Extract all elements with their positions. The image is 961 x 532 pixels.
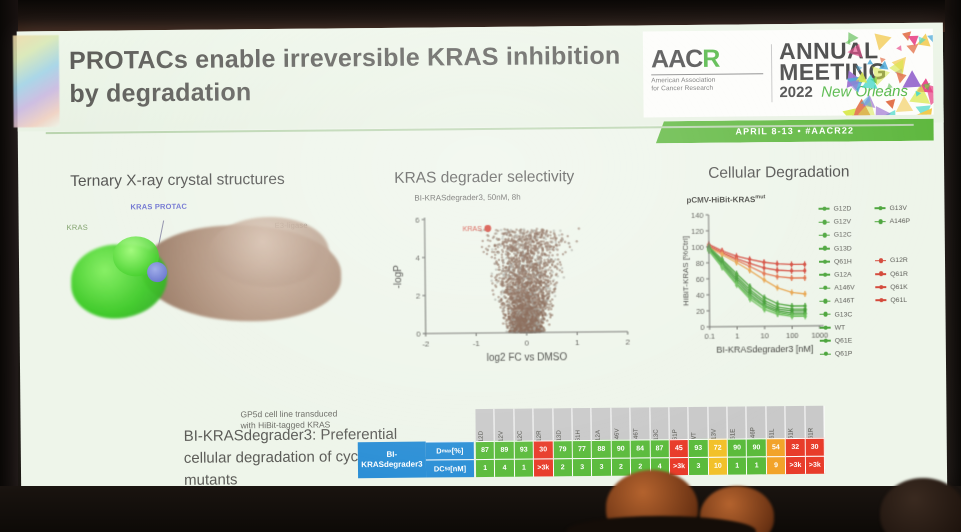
table-cell: >3k bbox=[670, 457, 690, 475]
aacr-logo-text: AACR bbox=[651, 46, 767, 72]
cellular-panel-subtitle: pCMV-HiBit-KRASmut bbox=[686, 194, 765, 204]
volcano-plot bbox=[389, 207, 641, 369]
legend-item-g12d: G12D bbox=[818, 205, 854, 219]
legend-marker-icon bbox=[819, 287, 830, 289]
table-column-header: Q61L bbox=[766, 406, 786, 438]
protac-ligand bbox=[147, 262, 167, 282]
legend-label: G13C bbox=[834, 311, 852, 318]
room-right-wall bbox=[945, 0, 961, 532]
legend-label: A146T bbox=[834, 298, 854, 305]
dose-response-canvas bbox=[678, 206, 830, 367]
table-cell: 84 bbox=[631, 439, 651, 457]
presentation-slide: PROTACs enable irreversible KRAS inhibit… bbox=[17, 23, 947, 500]
legend-marker-icon bbox=[875, 260, 886, 262]
aacr-branding-block: AACR American Association for Cancer Res… bbox=[643, 29, 934, 118]
legend-item-g13d: G13D bbox=[819, 245, 855, 259]
legend-item-q61k: Q61K bbox=[875, 284, 911, 298]
table-cell: 54 bbox=[767, 438, 787, 456]
table-cell: 3 bbox=[689, 457, 709, 475]
legend-item-g12a: G12A bbox=[819, 271, 855, 285]
slide-title: PROTACs enable irreversible KRAS inhibit… bbox=[69, 40, 630, 110]
table-column-header: Q61H bbox=[572, 408, 592, 440]
legend-column-1: G12DG12VG12CG13DQ61HG12AA146VA146TG13CWT… bbox=[818, 205, 855, 364]
legend-label: G12R bbox=[890, 257, 908, 264]
table-cell: 9 bbox=[767, 456, 787, 474]
table-cell: 3 bbox=[592, 458, 612, 476]
table-cell: 1 bbox=[728, 456, 748, 474]
legend-label: Q61P bbox=[835, 351, 852, 358]
table-metric-label: Dmax [%] bbox=[426, 441, 474, 459]
aacr-association-line-2: for Cancer Research bbox=[651, 84, 767, 93]
legend-marker-icon bbox=[819, 208, 830, 210]
legend-item-a146v: A146V bbox=[819, 285, 855, 299]
table-cell: 10 bbox=[709, 457, 729, 475]
table-cell: 87 bbox=[476, 441, 496, 459]
table-cell: 3 bbox=[573, 458, 593, 476]
table-column-header: G13D bbox=[553, 408, 573, 440]
legend-spacer bbox=[875, 231, 911, 257]
legend-marker-icon bbox=[875, 273, 886, 275]
table-cell: 32 bbox=[786, 438, 806, 456]
table-metric-label: DC50 [nM] bbox=[426, 459, 474, 477]
legend-marker-icon bbox=[875, 300, 886, 302]
crystal-panel-title: Ternary X-ray crystal structures bbox=[70, 171, 285, 191]
legend-item-q61e: Q61E bbox=[820, 337, 856, 351]
table-column-header: G12A bbox=[592, 408, 612, 440]
table-cell: 90 bbox=[611, 440, 631, 458]
cellular-panel-title: Cellular Degradation bbox=[708, 163, 849, 182]
legend-label: G13V bbox=[889, 205, 906, 212]
table-column-header: Q61E bbox=[727, 406, 747, 438]
volcano-panel-subtitle: BI-KRASdegrader3, 50nM, 8h bbox=[414, 193, 520, 203]
legend-marker-icon bbox=[819, 300, 830, 302]
legend-marker-icon bbox=[819, 274, 830, 276]
legend-label: G12V bbox=[834, 219, 851, 226]
table-cell: 79 bbox=[553, 440, 573, 458]
legend-marker-icon bbox=[820, 353, 831, 355]
confetti-graphic bbox=[841, 29, 934, 116]
light-prism-artifact bbox=[13, 35, 60, 127]
table-column-header: G13C bbox=[650, 407, 670, 439]
legend-marker-icon bbox=[819, 221, 830, 223]
table-column-header: Q61R bbox=[805, 406, 825, 438]
table-column-header: G12V bbox=[495, 409, 515, 441]
table-cell: 1 bbox=[747, 456, 767, 474]
table-cell: 45 bbox=[670, 439, 690, 457]
table-column-header: WT bbox=[689, 407, 709, 439]
table-column-header: G13V bbox=[708, 407, 728, 439]
legend-label: A146V bbox=[834, 285, 854, 292]
table-column-header: A146P bbox=[747, 406, 767, 438]
dose-response-plot: G12DG12VG12CG13DQ61HG12AA146VA146TG13CWT… bbox=[678, 205, 940, 372]
legend-label: Q61E bbox=[835, 337, 852, 344]
aacr-logo-accent: R bbox=[702, 45, 719, 73]
table-cell: 4 bbox=[495, 459, 515, 477]
label-kras-protac: KRAS PROTAC bbox=[130, 202, 187, 212]
legend-item-g12c: G12C bbox=[819, 232, 855, 246]
room-floor bbox=[0, 486, 961, 532]
legend-marker-icon bbox=[875, 286, 886, 288]
legend-item-g12r: G12R bbox=[875, 257, 911, 271]
cellular-subtitle-sup: mut bbox=[755, 194, 765, 200]
table-cell: 87 bbox=[650, 439, 670, 457]
table-caption: GP5d cell line transduced with HiBit-tag… bbox=[240, 407, 440, 432]
table-column-header: Q61P bbox=[669, 407, 689, 439]
legend-label: WT bbox=[835, 324, 846, 331]
legend-item-g13v: G13V bbox=[874, 205, 910, 219]
legend-label: Q61K bbox=[890, 284, 907, 291]
table-cell: 72 bbox=[708, 439, 728, 457]
table-row-header: BI-KRASdegrader3 bbox=[358, 442, 426, 479]
table-cell: 77 bbox=[573, 440, 593, 458]
legend-label: A146P bbox=[890, 218, 910, 225]
table-cell: 2 bbox=[612, 458, 632, 476]
legend-item-a146p: A146P bbox=[875, 218, 911, 232]
table-header-row: G12DG12VG12CG12RG13DQ61HG12AA146VA146TG1… bbox=[475, 406, 824, 409]
crystal-structure-figure: KRAS KRAS PROTAC E3-ligase bbox=[58, 198, 369, 331]
table-cell: 1 bbox=[476, 459, 496, 477]
legend-label: G12C bbox=[834, 232, 852, 239]
table-column-header: G12C bbox=[514, 409, 534, 441]
slide-header: PROTACs enable irreversible KRAS inhibit… bbox=[17, 23, 944, 132]
table-cell: 88 bbox=[592, 440, 612, 458]
legend-item-q61h: Q61H bbox=[819, 258, 855, 272]
legend-label: G12A bbox=[834, 271, 851, 278]
legend-marker-icon bbox=[820, 340, 831, 342]
legend-column-2: G13VA146PG12RQ61RQ61KQ61L bbox=[874, 205, 910, 310]
table-cell: 30 bbox=[805, 438, 825, 456]
table-cell: 2 bbox=[553, 458, 573, 476]
meeting-date-text: APRIL 8-13 • #AACR22 bbox=[656, 119, 934, 144]
volcano-panel-title: KRAS degrader selectivity bbox=[394, 168, 574, 188]
legend-item-q61l: Q61L bbox=[875, 297, 911, 311]
legend-marker-icon bbox=[819, 261, 830, 263]
table-cell: 90 bbox=[747, 438, 767, 456]
table-cell: >3k bbox=[806, 456, 826, 474]
meeting-date-banner: APRIL 8-13 • #AACR22 bbox=[656, 119, 934, 144]
table-column-header: G12D bbox=[475, 409, 495, 441]
legend-item-g13c: G13C bbox=[819, 311, 855, 325]
legend-label: Q61R bbox=[890, 270, 908, 277]
table-cell: 30 bbox=[534, 440, 554, 458]
summary-table: GP5d cell line transduced with HiBit-tag… bbox=[475, 406, 825, 477]
legend-marker-icon bbox=[819, 248, 830, 250]
table-column-header: G12R bbox=[534, 408, 554, 440]
legend-marker-icon bbox=[820, 314, 831, 316]
legend-label: G13D bbox=[834, 245, 852, 252]
table-cell: 93 bbox=[689, 439, 709, 457]
legend-marker-icon bbox=[819, 234, 830, 236]
table-column-header: Q61K bbox=[786, 406, 806, 438]
table-cell: >3k bbox=[534, 458, 554, 476]
table-cell: 89 bbox=[495, 441, 515, 459]
legend-marker-icon bbox=[820, 327, 831, 329]
legend-marker-icon bbox=[875, 208, 886, 210]
legend-label: Q61H bbox=[834, 258, 852, 265]
legend-item-q61p: Q61P bbox=[820, 350, 856, 364]
legend-item-q61r: Q61R bbox=[875, 270, 911, 284]
legend-item-g12v: G12V bbox=[819, 219, 855, 233]
legend-item-a146t: A146T bbox=[819, 298, 855, 312]
aacr-divider bbox=[771, 44, 773, 102]
aacr-logo-rule bbox=[651, 73, 763, 75]
table-cell: 93 bbox=[515, 441, 535, 459]
table-cell: 1 bbox=[515, 459, 535, 477]
table-cell: 90 bbox=[728, 438, 748, 456]
table-column-header: A146V bbox=[611, 408, 631, 440]
meeting-year: 2022 bbox=[779, 84, 813, 101]
volcano-canvas bbox=[389, 207, 641, 369]
projection-room: PROTACs enable irreversible KRAS inhibit… bbox=[0, 0, 961, 532]
legend-item-wt: WT bbox=[820, 324, 856, 338]
aacr-logo: AACR American Association for Cancer Res… bbox=[651, 46, 767, 93]
table-column-header: A146T bbox=[631, 407, 651, 439]
legend-label: Q61L bbox=[890, 297, 907, 304]
label-kras: KRAS bbox=[67, 223, 88, 232]
table-caption-line-2: with HiBit-tagged KRAS bbox=[241, 419, 441, 432]
table-cell: >3k bbox=[786, 456, 806, 474]
legend-label: G12D bbox=[833, 205, 851, 212]
legend-marker-icon bbox=[875, 221, 886, 223]
